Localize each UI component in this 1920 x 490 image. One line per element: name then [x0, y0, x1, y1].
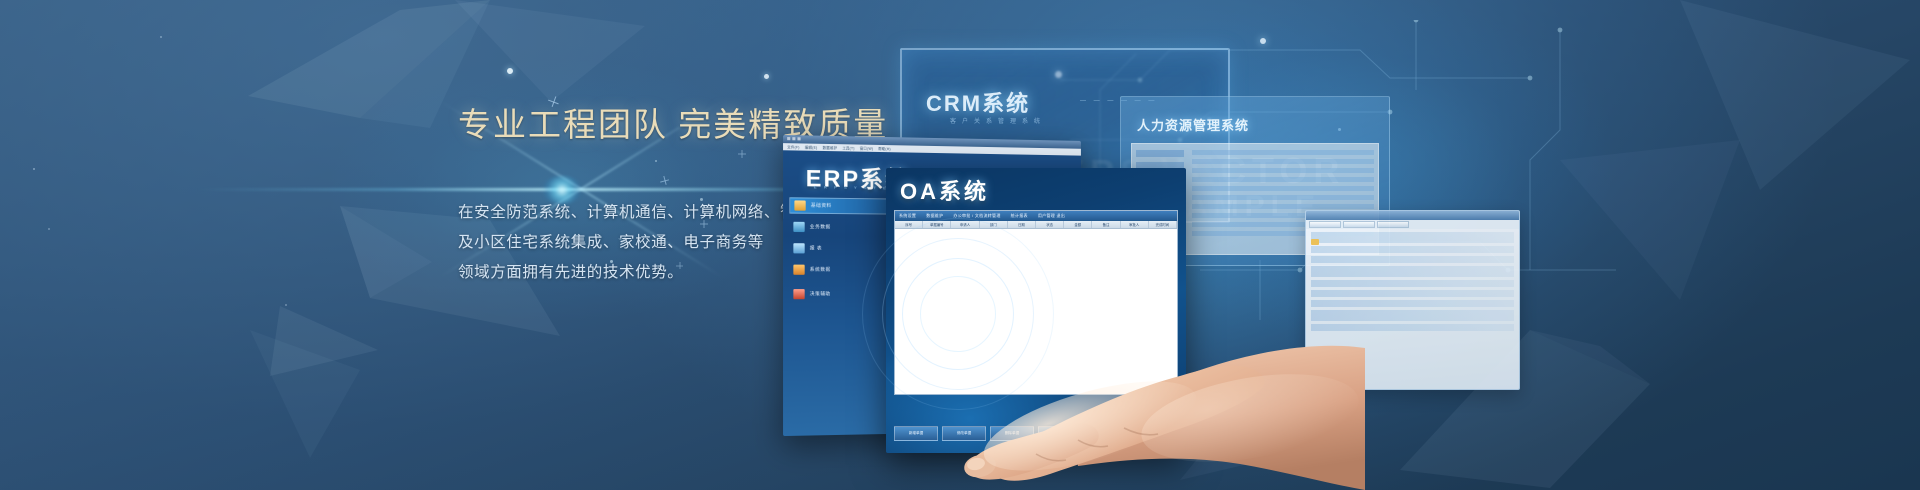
- oa-toolbar-item[interactable]: 办公审批 / 文档流转管理: [953, 213, 1000, 219]
- oa-column-header: 序号: [895, 221, 923, 228]
- screens-cluster: EPS VECTOR SAMPLE HAN CRM系统 — — — — — — …: [760, 0, 1920, 490]
- oa-column-header: 审批人: [1121, 221, 1149, 228]
- erp-nav-item-system[interactable]: 系统数据: [789, 262, 897, 278]
- erp-menu-item[interactable]: 数据维护: [823, 145, 838, 150]
- erp-nav-label: 基础资料: [811, 203, 832, 209]
- folder-icon: [794, 200, 805, 210]
- erp-menu-item[interactable]: 窗口(W): [860, 146, 873, 151]
- polygon-shard: [250, 330, 390, 460]
- list-row: [1311, 300, 1514, 307]
- oa-column-header: 部门: [980, 221, 1008, 228]
- oa-body: OA系统 系统设置 数据维护 办公审批 / 文档流转管理 统计报表 用户管理 退…: [886, 168, 1186, 453]
- erp-nav-label: 决策辅助: [810, 291, 831, 297]
- polygon-shard: [455, 0, 655, 110]
- oa-action-button[interactable]: 提交审批: [1038, 426, 1082, 441]
- oa-action-button[interactable]: 查询统计: [1086, 426, 1130, 441]
- list-row: [1311, 310, 1514, 321]
- oa-column-header: 日期: [1008, 221, 1036, 228]
- report-icon: [793, 243, 804, 253]
- oa-action-button[interactable]: 删除单据: [990, 426, 1034, 441]
- crm-title: CRM系统: [926, 86, 1030, 118]
- oa-toolbar-item[interactable]: 系统设置: [899, 213, 916, 219]
- oa-toolbar-item[interactable]: 统计报表: [1011, 213, 1028, 219]
- oa-table-body[interactable]: [895, 229, 1177, 394]
- erp-menu-item[interactable]: 编辑(E): [805, 145, 818, 150]
- polygon-shard: [270, 298, 390, 388]
- list-row: [1311, 232, 1514, 243]
- oa-column-header: 单据编号: [923, 221, 951, 228]
- oa-column-header: 状态: [1036, 221, 1064, 228]
- list-row: [1311, 280, 1514, 287]
- chart-icon: [793, 289, 804, 299]
- list-row: [1311, 266, 1514, 277]
- particle-dot: [48, 228, 50, 230]
- oa-toolbar-item[interactable]: 数据维护: [926, 213, 943, 219]
- oa-column-header: 申请人: [951, 221, 979, 228]
- oa-column-header: 金额: [1064, 221, 1092, 228]
- oa-button-row: 新增单据 修改单据 删除单据 提交审批 查询统计 打印导出: [894, 426, 1178, 441]
- particle-dot: [33, 168, 35, 170]
- list-row: [1311, 256, 1514, 263]
- erp-nav-label: 系统数据: [810, 267, 831, 273]
- erp-nav-item-basic[interactable]: 基础资料: [789, 197, 897, 214]
- list-row: [1311, 246, 1514, 253]
- oa-toolbar[interactable]: 系统设置 数据维护 办公审批 / 文档流转管理 统计报表 用户管理 退出: [895, 211, 1177, 221]
- oa-action-button[interactable]: 新增单据: [894, 426, 938, 441]
- oa-action-button[interactable]: 打印导出: [1134, 426, 1178, 441]
- oa-column-header: 备注: [1092, 221, 1120, 228]
- secondary-window[interactable]: [1305, 210, 1520, 390]
- particle-dot: [285, 304, 287, 306]
- oa-app-surface: 系统设置 数据维护 办公审批 / 文档流转管理 统计报表 用户管理 退出 序号 …: [894, 210, 1178, 395]
- database-icon: [793, 265, 804, 275]
- oa-title: OA系统: [900, 174, 989, 206]
- erp-nav-label: 业务数据: [810, 224, 831, 230]
- erp-nav-item-report[interactable]: 报 表: [789, 240, 897, 257]
- banner-stage: 专业工程团队 完美精致质量 在安全防范系统、计算机通信、计算机网络、智能大厦 及…: [0, 0, 1920, 490]
- crm-subtitle: 客户关系管理系统: [950, 116, 1046, 125]
- list-row: [1311, 290, 1514, 297]
- gear-icon: [793, 222, 804, 232]
- erp-menu-item[interactable]: 帮助(H): [878, 146, 891, 151]
- particle-dot: [160, 36, 162, 38]
- window-tabs[interactable]: [1306, 220, 1519, 229]
- oa-column-header: 完成时间: [1149, 221, 1177, 228]
- folder-icon: [1311, 239, 1319, 245]
- oa-table-header: 序号 单据编号 申请人 部门 日期 状态 金额 备注 审批人 完成时间: [895, 221, 1177, 229]
- list-row: [1311, 324, 1514, 331]
- erp-nav-label: 报 表: [810, 245, 822, 251]
- erp-nav-item-decision[interactable]: 决策辅助: [789, 286, 897, 302]
- particle-dot: [507, 68, 513, 74]
- hr-title: 人力资源管理系统: [1137, 115, 1249, 134]
- oa-toolbar-item[interactable]: 用户管理 退出: [1038, 213, 1065, 219]
- oa-window[interactable]: OA系统 系统设置 数据维护 办公审批 / 文档流转管理 统计报表 用户管理 退…: [886, 168, 1186, 453]
- oa-action-button[interactable]: 修改单据: [942, 426, 986, 441]
- erp-nav-item-business[interactable]: 业务数据: [789, 219, 897, 236]
- window-titlebar: [1306, 211, 1519, 220]
- erp-menu-item[interactable]: 工具(T): [842, 145, 854, 150]
- erp-menu-item[interactable]: 文件(F): [787, 144, 800, 149]
